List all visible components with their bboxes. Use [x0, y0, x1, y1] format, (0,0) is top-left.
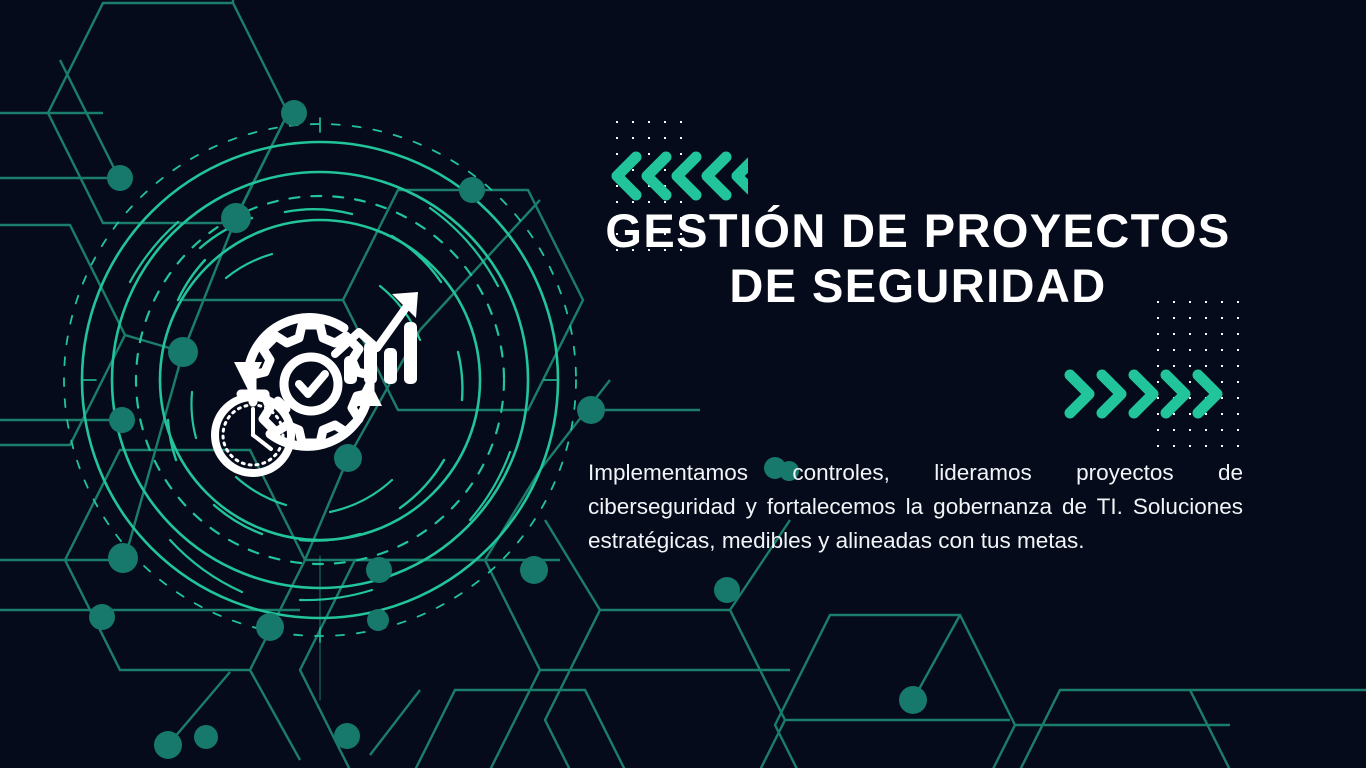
content-column: GESTIÓN DE PROYECTOS DE SEGURIDAD Implem… — [588, 0, 1248, 768]
project-management-icon — [196, 268, 436, 492]
chevron-right-icon — [1070, 375, 1089, 413]
slide-canvas: GESTIÓN DE PROYECTOS DE SEGURIDAD Implem… — [0, 0, 1366, 768]
chevron-left-icon — [647, 157, 666, 195]
chevron-left-icon — [707, 157, 726, 195]
chevron-right-icon — [1198, 375, 1217, 413]
chevron-left-group — [608, 147, 748, 205]
body-paragraph: Implementamos controles, lideramos proye… — [588, 456, 1243, 558]
chevron-right-group — [1060, 365, 1240, 423]
chevron-left-icon — [617, 157, 636, 195]
chevron-right-icon — [1134, 375, 1153, 413]
chevron-right-icon — [1102, 375, 1121, 413]
chevron-left-icon — [737, 157, 748, 195]
chevron-left-icon — [677, 157, 696, 195]
chevron-right-icon — [1166, 375, 1185, 413]
